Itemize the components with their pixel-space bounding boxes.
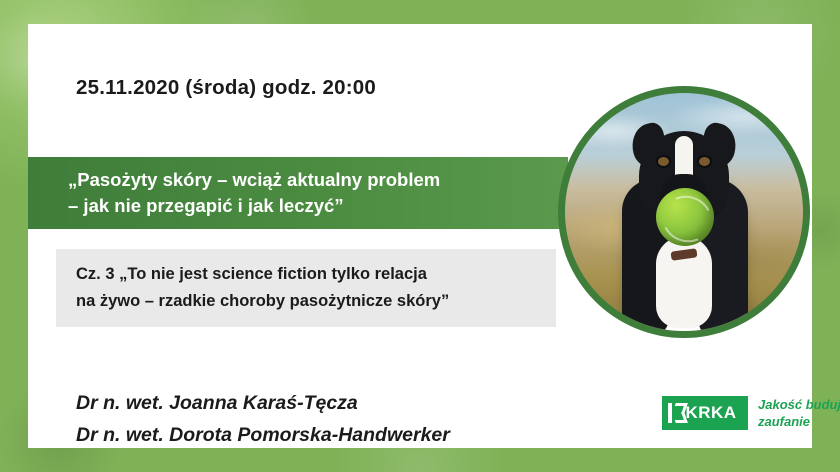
tennis-ball [656,188,714,246]
krka-slogan: Jakość buduje zaufanie [758,396,840,430]
title-line-2: – jak nie przegapić i jak leczyć” [68,193,568,219]
date-line: 25.11.2020 (środa) godz. 20:00 [76,76,376,100]
content-card: 25.11.2020 (środa) godz. 20:00 „Pasożyty… [28,24,812,448]
krka-mark: KRKA [662,396,748,430]
krka-slogan-line-1: Jakość buduje [758,396,840,413]
subtitle-bar: Cz. 3 „To nie jest science fiction tylko… [56,249,556,327]
presenter-2: Dr n. wet. Dorota Pomorska-Handwerker [76,419,450,451]
subtitle-line-1: Cz. 3 „To nie jest science fiction tylko… [76,261,556,288]
title-line-1: „Pasożyty skóry – wciąż aktualny problem [68,167,568,193]
krka-swoosh-icon [668,403,686,423]
dog-photo [565,93,803,331]
krka-logo: KRKA Jakość buduje zaufanie [662,396,840,430]
dog-photo-ring [558,86,810,338]
slide-canvas: 25.11.2020 (środa) godz. 20:00 „Pasożyty… [0,0,840,472]
krka-slogan-line-2: zaufanie [758,413,840,430]
title-bar: „Pasożyty skóry – wciąż aktualny problem… [28,157,568,229]
presenter-1: Dr n. wet. Joanna Karaś-Tęcza [76,387,450,419]
presenters-block: Dr n. wet. Joanna Karaś-Tęcza Dr n. wet.… [76,387,450,451]
subtitle-line-2: na żywo – rzadkie choroby pasożytnicze s… [76,288,556,315]
